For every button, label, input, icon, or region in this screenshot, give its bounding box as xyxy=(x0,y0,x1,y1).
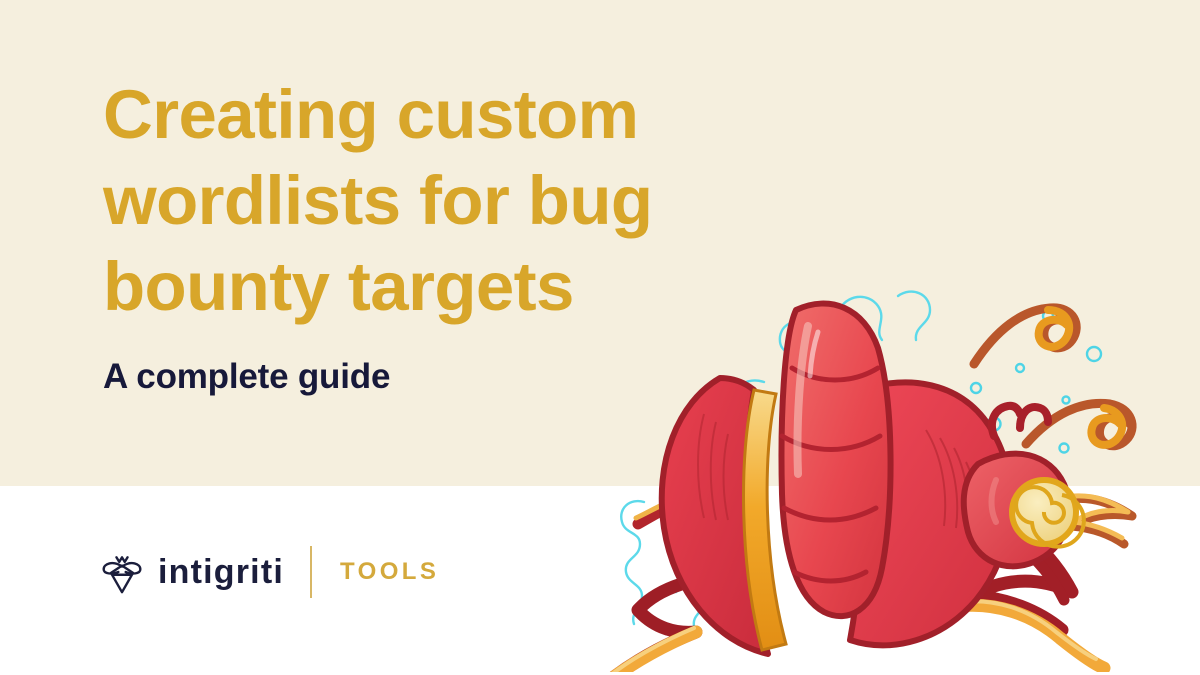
bee-logo-icon xyxy=(100,549,144,595)
page-title-line-3: bounty targets xyxy=(103,244,843,330)
brand-wordmark: intigriti xyxy=(158,555,284,589)
article-hero-banner: Creating custom wordlists for bug bounty… xyxy=(0,0,1200,675)
page-title-line-1: Creating custom xyxy=(103,72,843,158)
bug-antennae xyxy=(974,308,1132,446)
brand-divider xyxy=(310,546,312,598)
page-title-line-2: wordlists for bug xyxy=(103,158,843,244)
page-subtitle: A complete guide xyxy=(103,356,843,398)
hero-text-block: Creating custom wordlists for bug bounty… xyxy=(103,72,843,398)
category-label-tools: TOOLS xyxy=(340,560,439,584)
brand-lockup[interactable]: intigriti TOOLS xyxy=(100,546,439,598)
bug-left-wing-case xyxy=(662,378,786,654)
